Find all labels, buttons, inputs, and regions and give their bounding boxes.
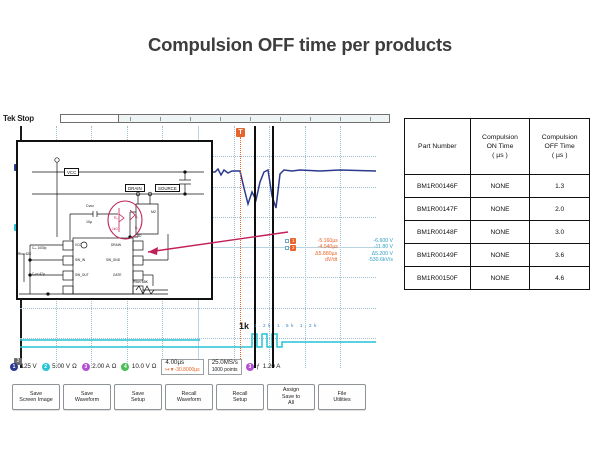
channel-badge-2: 2 — [42, 363, 50, 371]
channel-badge-4: 4 — [121, 363, 129, 371]
label-left-part-1: Rton 62K — [18, 252, 31, 256]
trigger-position-line — [240, 137, 241, 369]
trigger-point-marker: T — [236, 128, 245, 137]
channel-setting-2[interactable]: 2 5.00 V Ω — [42, 363, 77, 371]
channel-setting-4[interactable]: 4 10.0 V Ω — [121, 363, 156, 371]
label-rton: Rton 68K — [133, 280, 148, 284]
cursor-bar-2[interactable] — [272, 126, 274, 368]
record-tick-marks — [60, 115, 390, 122]
btn-line-2: Screen Image — [19, 397, 53, 404]
trigger-source-badge: 3 — [246, 363, 254, 371]
header-line-1: Compulsion — [472, 133, 529, 142]
label-cvcc: Cvcc — [86, 204, 94, 208]
cursor-checkbox-2[interactable] — [285, 246, 289, 250]
cell-off-time: 3.0 — [530, 221, 590, 244]
cursor-index-2: 2 — [290, 245, 296, 251]
table-row: BM1R00150F NONE 4.6 — [405, 267, 590, 290]
save-screen-image-button[interactable]: Save Screen Image — [12, 384, 60, 410]
label-left-part-3: Cᵥᴄᴄ 47μ — [32, 272, 45, 276]
btn-line-2: Utilities — [333, 397, 350, 404]
channel-scale-4: 10.0 V — [132, 363, 150, 370]
label-d1: D₁ — [135, 215, 138, 219]
channel-scale-3: 2.00 A — [92, 363, 110, 370]
highlight-components — [119, 208, 135, 232]
schematic-inset: VCC DRAIN SOURCE M2 Cvcc 10µ R₁ 1kΩ D₁ D… — [16, 140, 213, 300]
sample-rate-value: 25.0MS/s — [212, 360, 238, 367]
recall-waveform-button[interactable]: Recall Waveform — [165, 384, 213, 410]
table-row: BM1R00147F NONE 2.0 — [405, 198, 590, 221]
cursor-readout-panel: 1 -5.160µs -6.600 V 2 -4.040µs -11.80 V … — [285, 238, 393, 264]
cell-part-number: BM1R00149F — [405, 244, 471, 267]
trigger-level-value: 1.20 A — [263, 363, 281, 370]
header-line-2: ON Time — [472, 142, 529, 151]
label-mosfet-m2: M2 — [151, 210, 156, 214]
compulsion-time-table: Part Number Compulsion ON Time ( µs ) Co… — [404, 118, 590, 290]
channel-setting-3[interactable]: 3 2.00 A Ω — [82, 363, 117, 371]
header-line-3: ( µs ) — [472, 151, 529, 160]
table-header-part-number: Part Number — [405, 119, 471, 175]
pin-label-sw-gnd: SW_GND — [106, 258, 120, 262]
page-title: Compulsion OFF time per products — [0, 34, 600, 56]
slope-label: dV/dt — [298, 257, 337, 263]
btn-line-2: Waveform — [177, 397, 201, 404]
table-header-on-time: Compulsion ON Time ( µs ) — [470, 119, 530, 175]
cell-off-time: 3.6 — [530, 244, 590, 267]
save-waveform-button[interactable]: Save Waveform — [63, 384, 111, 410]
recall-setup-button[interactable]: Recall Setup — [216, 384, 264, 410]
label-cvcc-value: 10µ — [86, 220, 92, 224]
label-d2-value: TBD — [135, 234, 141, 238]
header-line-1: Compulsion — [531, 133, 588, 142]
pin-label-sw-in: SW_IN — [75, 258, 85, 262]
cell-off-time: 4.6 — [530, 267, 590, 290]
timebase-setting[interactable]: 4.00µs ↦▼-30.8000µs — [161, 359, 203, 375]
file-utilities-button[interactable]: File Utilities — [318, 384, 366, 410]
table-row: BM1R00146F NONE 1.3 — [405, 175, 590, 198]
cell-off-time: 1.3 — [530, 175, 590, 198]
coupling-symbol-4: Ω — [152, 363, 157, 370]
channel-setting-1[interactable]: 1 125 V — [10, 363, 37, 371]
acquisition-setting[interactable]: 25.0MS/s 1000 points — [208, 359, 242, 375]
trigger-setting[interactable]: 3 ƒ 1.20 A — [246, 363, 281, 371]
cell-part-number: BM1R00148F — [405, 221, 471, 244]
slope-value: -530.6kV/s — [348, 257, 393, 263]
cell-part-number: BM1R00147F — [405, 198, 471, 221]
label-drain: DRAIN — [125, 184, 145, 192]
table-header-off-time: Compulsion OFF Time ( µs ) — [530, 119, 590, 175]
label-r1: R₁ — [114, 216, 118, 220]
annotation-1k: 1k — [239, 321, 249, 331]
save-setup-button[interactable]: Save Setup — [114, 384, 162, 410]
cell-on-time: NONE — [470, 198, 530, 221]
assign-save-to-all-button[interactable]: Assign Save to All — [267, 384, 315, 410]
header-line-3: ( µs ) — [531, 151, 588, 160]
cell-on-time: NONE — [470, 221, 530, 244]
scope-settings-bar: 1 125 V 2 5.00 V Ω 3 2.00 A Ω 4 10.0 V Ω… — [0, 359, 396, 374]
label-d2: D₂ — [135, 226, 139, 230]
table-header-row: Part Number Compulsion ON Time ( µs ) Co… — [405, 119, 590, 175]
btn-line-2: Waveform — [75, 397, 99, 404]
cursor-index-1: 1 — [290, 238, 296, 244]
pin-label-vcc: VCC — [75, 243, 82, 247]
trigger-position-value: ↦▼-30.8000µs — [165, 367, 199, 374]
annotation-pulse-marks: 1.2k 1.5k 1.2k — [254, 323, 319, 328]
cell-off-time: 2.0 — [530, 198, 590, 221]
cell-on-time: NONE — [470, 244, 530, 267]
channel-badge-3: 3 — [82, 363, 90, 371]
cell-part-number: BM1R00150F — [405, 267, 471, 290]
slide-page: Compulsion OFF time per products Tek Sto… — [0, 0, 600, 450]
label-source: SOURCE — [155, 184, 180, 192]
cell-on-time: NONE — [470, 175, 530, 198]
scope-status-label: Tek Stop — [3, 114, 34, 123]
header-line-1: Part Number — [406, 142, 469, 151]
btn-line-2: Setup — [131, 397, 145, 404]
label-vcc: VCC — [64, 168, 79, 176]
btn-line-3: All — [288, 400, 294, 407]
channel-scale-1: 125 V — [21, 363, 37, 370]
btn-line-2: Setup — [233, 397, 247, 404]
pin-label-sw-out: SW_OUT — [75, 273, 89, 277]
trigger-slope-icon: ƒ — [256, 363, 259, 370]
table-row: BM1R00149F NONE 3.6 — [405, 244, 590, 267]
header-line-2: OFF Time — [531, 142, 588, 151]
label-r1-value: 1kΩ — [112, 227, 118, 231]
pin-label-drain: DRAIN — [111, 243, 121, 247]
record-length-value: 1000 points — [212, 367, 238, 374]
scope-menu-button-row: Save Screen Image Save Waveform Save Set… — [12, 384, 392, 410]
channel-scale-2: 5.00 V — [52, 363, 70, 370]
coupling-symbol-2: Ω — [72, 363, 77, 370]
cell-on-time: NONE — [470, 267, 530, 290]
pin-label-gate: GATE — [113, 273, 121, 277]
cursor-slope-row: dV/dt -530.6kV/s — [285, 257, 393, 263]
coupling-symbol-3: Ω — [112, 363, 117, 370]
cell-part-number: BM1R00146F — [405, 175, 471, 198]
label-left-part-2: Cₒₛ 1000p — [32, 246, 46, 250]
cursor-bar-1[interactable] — [254, 126, 256, 368]
cursor-checkbox-1[interactable] — [285, 239, 289, 243]
table-row: BM1R00148F NONE 3.0 — [405, 221, 590, 244]
channel-badge-1: 1 — [10, 363, 18, 371]
